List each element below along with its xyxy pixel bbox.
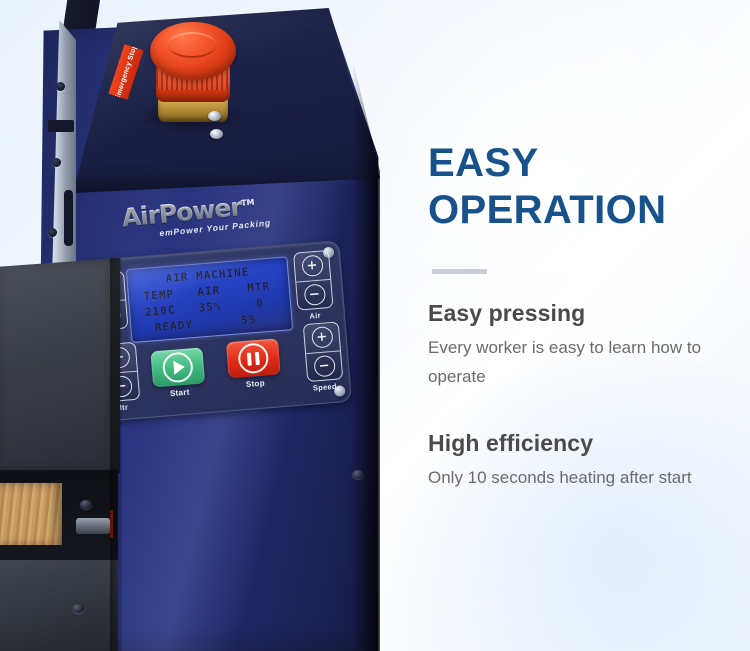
housing-edge-shadow <box>110 258 122 651</box>
feature-easy-pressing: Easy pressing Every worker is easy to le… <box>428 298 738 391</box>
feature-high-efficiency: High efficiency Only 10 seconds heating … <box>428 428 738 492</box>
promo-banner: Emergency Stop AirPowerTM emPower Your P… <box>0 0 750 651</box>
start-button-face[interactable] <box>150 347 205 387</box>
play-icon <box>162 351 194 383</box>
stop-button-label: Stop <box>229 377 282 390</box>
marketing-copy: EASY OPERATION Easy pressing Every worke… <box>428 0 738 651</box>
brand-trademark: TM <box>241 198 255 208</box>
bracket-bolt <box>56 82 65 91</box>
page-title: EASY OPERATION <box>428 140 666 234</box>
pause-bars <box>247 351 260 365</box>
bracket-strip <box>48 120 74 132</box>
keypad-speed-box[interactable]: + − <box>303 321 344 382</box>
machine-right-edge-shadow <box>352 20 380 651</box>
keypad-speed-plus[interactable]: + <box>304 322 340 352</box>
emergency-stop-assembly[interactable]: Emergency Stop <box>146 8 238 133</box>
headline-line-1: EASY <box>428 140 666 187</box>
bracket-bolt <box>48 228 57 237</box>
lcd-gloss <box>127 257 292 342</box>
title-divider <box>432 269 487 274</box>
play-triangle <box>173 360 185 375</box>
machine-lower-housing <box>0 258 120 473</box>
panel-screw <box>210 129 223 139</box>
pause-icon <box>237 342 269 374</box>
headline-line-2: OPERATION <box>428 187 666 234</box>
control-panel[interactable]: AIR MACHINE TEMP AIR MTR 210C 35% 0 READ… <box>86 240 352 422</box>
stop-button[interactable]: Stop <box>226 338 282 390</box>
bracket-slot <box>64 190 73 246</box>
feature-body: Only 10 seconds heating after start <box>428 463 738 492</box>
minus-icon: − <box>303 283 326 306</box>
body-screw <box>72 604 84 613</box>
keypad-air-label: Air <box>298 310 333 322</box>
plus-icon: + <box>301 255 324 278</box>
panel-screw <box>208 111 221 121</box>
keypad-air-box[interactable]: + − <box>293 250 334 311</box>
body-screw <box>352 470 364 479</box>
emergency-stop-arc <box>168 32 216 58</box>
bracket-bolt <box>52 158 61 167</box>
feature-title: High efficiency <box>428 428 738 458</box>
keypad-speed[interactable]: + − Speed <box>303 322 342 394</box>
stop-button-face[interactable] <box>226 338 281 378</box>
keypad-air[interactable]: + − Air <box>293 250 332 322</box>
body-screw <box>80 500 92 509</box>
start-button[interactable]: Start <box>150 347 206 399</box>
product-photo-air-packing-machine: Emergency Stop AirPowerTM emPower Your P… <box>0 0 400 651</box>
keypad-speed-minus[interactable]: − <box>306 350 342 381</box>
kraft-paper-roll <box>0 483 62 545</box>
feature-title: Easy pressing <box>428 298 738 328</box>
feature-body: Every worker is easy to learn how to ope… <box>428 333 738 391</box>
keypad-air-plus[interactable]: + <box>294 251 330 281</box>
machine-base-housing <box>0 560 118 651</box>
minus-icon: − <box>313 355 336 378</box>
start-button-label: Start <box>154 386 207 399</box>
lcd-display: AIR MACHINE TEMP AIR MTR 210C 35% 0 READ… <box>126 256 293 343</box>
plus-icon: + <box>311 326 334 349</box>
paper-roll-shaft <box>76 518 110 534</box>
keypad-air-minus[interactable]: − <box>296 278 332 309</box>
